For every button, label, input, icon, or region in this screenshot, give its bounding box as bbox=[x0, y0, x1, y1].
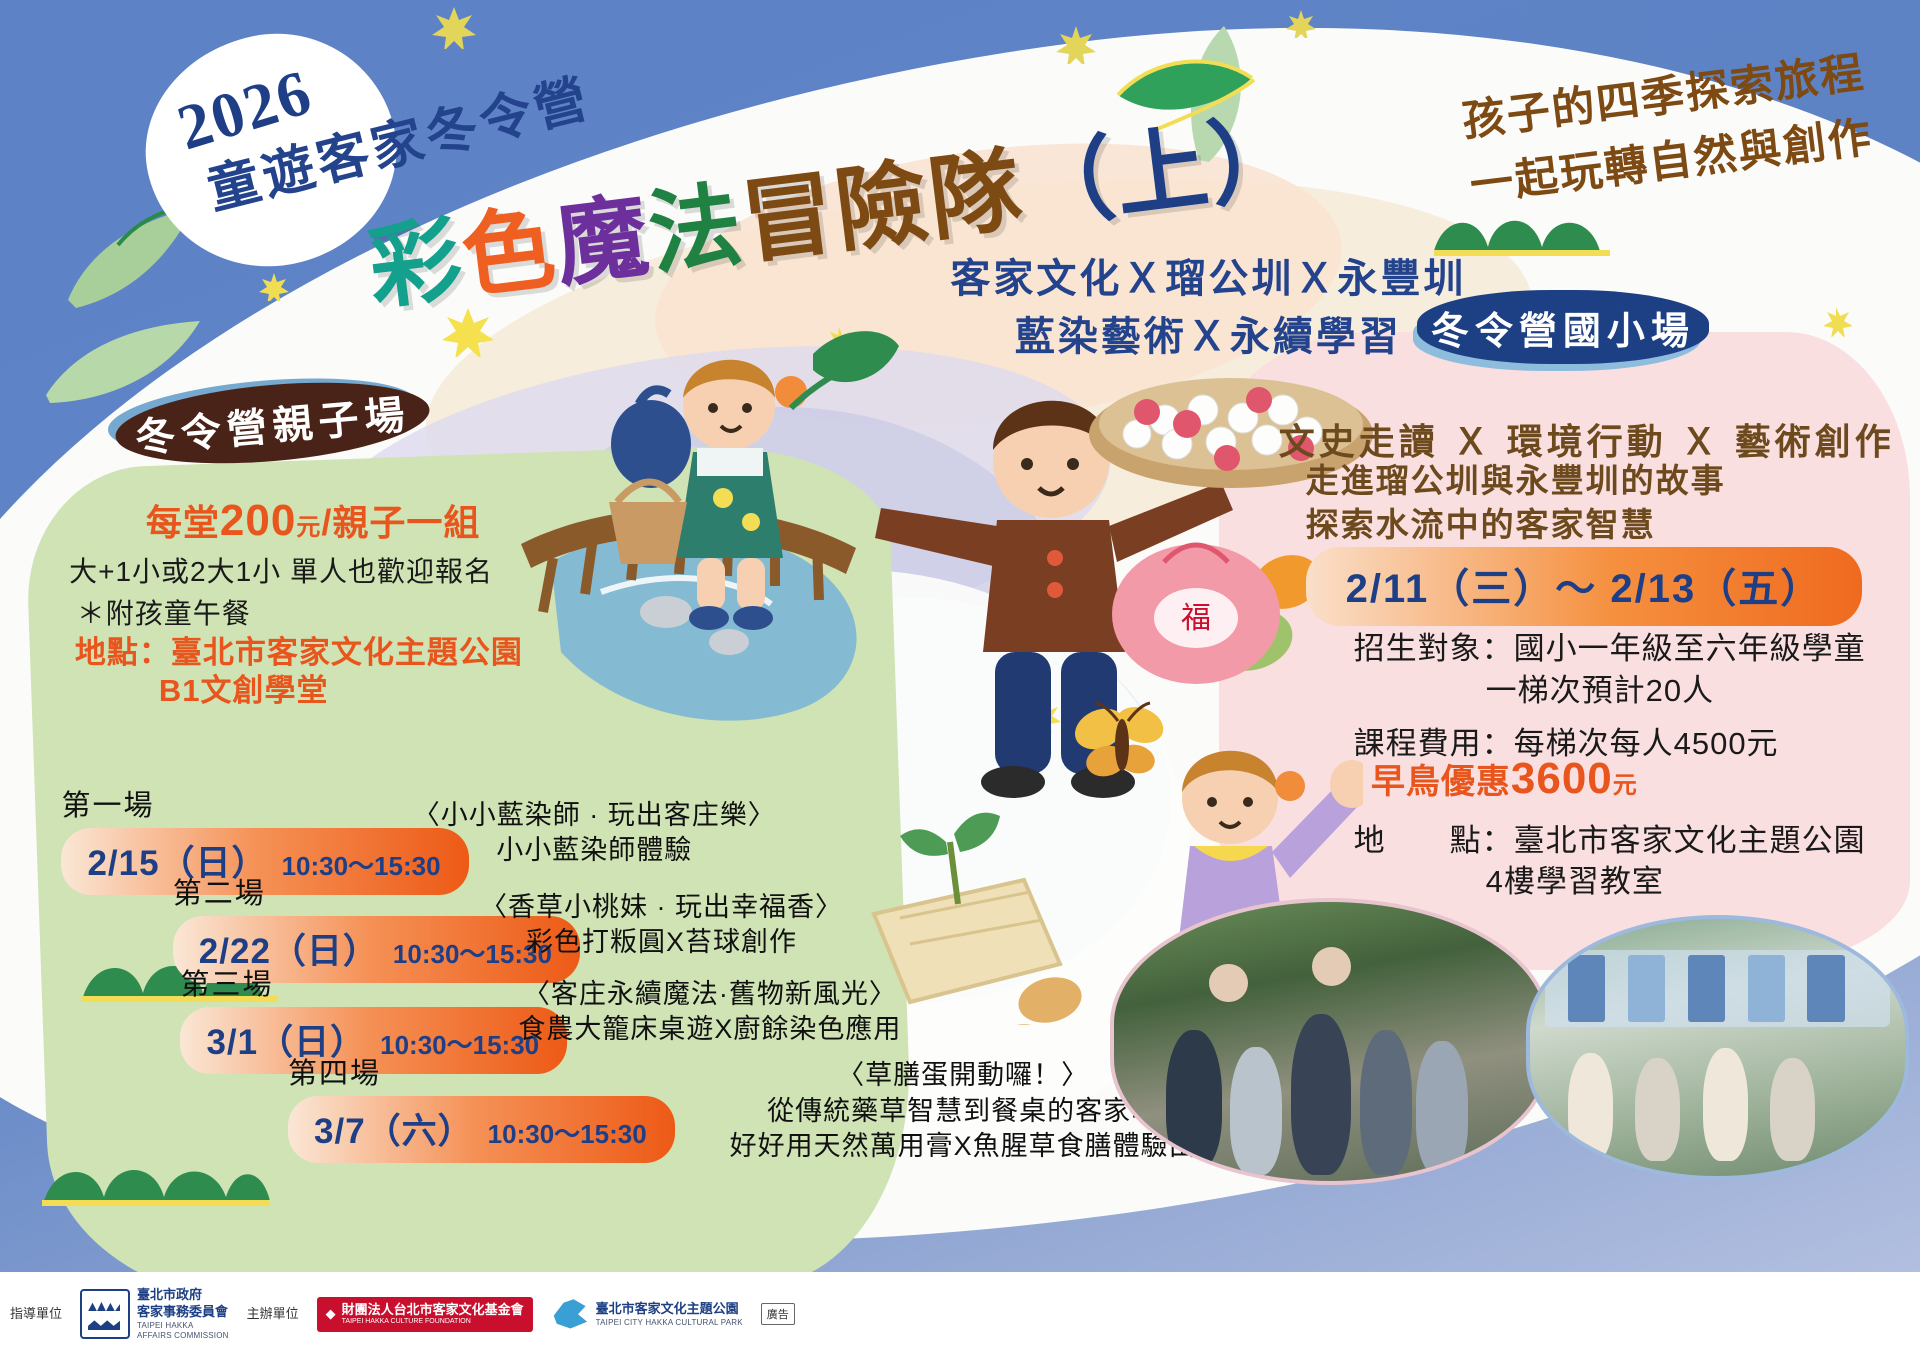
footer-guide-label: 指導單位 bbox=[10, 1306, 62, 1322]
session-subtitle: 食農大籠床桌遊X廚餘染色應用 bbox=[518, 1012, 901, 1047]
session-item: 第四場 3/7（六） 10:30～15:30 bbox=[288, 1050, 675, 1163]
school-subheadline-line-2: 探索水流中的客家智慧 bbox=[1306, 503, 1726, 548]
photo-outdoor-activity bbox=[1526, 915, 1908, 1181]
school-place-value-2: 4樓學習教室 bbox=[1486, 861, 1866, 903]
parent-price: 每堂200元/親子一組 bbox=[146, 494, 480, 546]
logo-hakka-park: 臺北市客家文化主題公園 TAIPEI CITY HAKKA CULTURAL P… bbox=[551, 1297, 743, 1331]
park-en: TAIPEI CITY HAKKA CULTURAL PARK bbox=[596, 1318, 743, 1328]
commission-text: 臺北市政府 客家事務委員會 TAIPEI HAKKA AFFAIRS COMMI… bbox=[137, 1287, 229, 1342]
svg-text:福: 福 bbox=[1181, 601, 1211, 636]
school-target-value-2: 一梯次預計20人 bbox=[1486, 670, 1866, 712]
park-text: 臺北市客家文化主題公園 TAIPEI CITY HAKKA CULTURAL P… bbox=[596, 1301, 743, 1328]
price-unit: 元 bbox=[296, 514, 321, 541]
star-icon bbox=[259, 271, 289, 301]
session-title: 〈客庄永續魔法·舊物新風光〉 bbox=[518, 977, 901, 1012]
school-target-label: 招生對象： bbox=[1354, 631, 1514, 666]
bird-icon bbox=[551, 1297, 589, 1331]
footer-host-label: 主辦單位 bbox=[247, 1306, 299, 1322]
school-place-label: 地 點： bbox=[1354, 823, 1514, 858]
foundation-line-1: 財團法人台北市客家文化基金會 bbox=[342, 1302, 524, 1317]
school-target-value: 國小一年級至六年級學童 bbox=[1514, 631, 1866, 666]
school-place: 地 點：臺北市客家文化主題公園 4樓學習教室 bbox=[1354, 820, 1866, 904]
star-icon bbox=[1056, 24, 1096, 64]
poster-canvas: 2026 童遊客家冬令營 彩色魔法冒險隊（上） 孩子的四季探索旅程 一起玩轉自然… bbox=[0, 0, 1920, 1357]
hill-shape bbox=[38, 1147, 278, 1207]
price-suffix: /親子一組 bbox=[321, 502, 480, 543]
school-target: 招生對象：國小一年級至六年級學童 一梯次預計20人 bbox=[1354, 628, 1866, 712]
session-description: 〈小小藍染師 · 玩出客庄樂〉 小小藍染師體驗 bbox=[413, 798, 776, 868]
session-number: 第一場 bbox=[61, 782, 468, 824]
early-bird-prefix: 早鳥優惠 bbox=[1371, 763, 1511, 801]
footer-bar: 指導單位 臺北市政府 客家事務委員會 TAIPEI HAKKA AFFAIRS … bbox=[0, 1272, 1920, 1357]
commission-en-2: AFFAIRS COMMISSION bbox=[137, 1331, 229, 1341]
foundation-text: 財團法人台北市客家文化基金會 TAIPEI HAKKA CULTURE FOUN… bbox=[342, 1302, 524, 1327]
title-part-2: 色 bbox=[454, 173, 564, 316]
session-subtitle: 小小藍染師體驗 bbox=[413, 833, 776, 868]
parent-venue-line-1: 地點：臺北市客家文化主題公園 bbox=[75, 635, 523, 670]
school-headline: 文史走讀 Ｘ 環境行動 Ｘ 藝術創作 bbox=[1279, 413, 1895, 465]
session-time: 10:30～15:30 bbox=[488, 1114, 647, 1151]
park-line-1: 臺北市客家文化主題公園 bbox=[596, 1301, 743, 1318]
title-part-1: 彩 bbox=[360, 185, 470, 328]
session-description: 〈香草小桃妹 · 玩出幸福香〉 彩色打粄圓X苔球創作 bbox=[480, 890, 843, 960]
parent-note-2: ＊附孩童午餐 bbox=[77, 592, 251, 632]
school-place-value: 臺北市客家文化主題公園 bbox=[1514, 823, 1866, 858]
school-subheadline: 走進瑠公圳與永豐圳的故事 探索水流中的客家智慧 bbox=[1306, 459, 1726, 548]
commission-line-2: 客家事務委員會 bbox=[137, 1304, 229, 1321]
star-icon bbox=[1820, 305, 1852, 337]
parent-venue: 地點：臺北市客家文化主題公園 B1文創學堂 bbox=[75, 634, 523, 712]
early-bird-number: 3600 bbox=[1511, 754, 1613, 803]
price-number: 200 bbox=[220, 496, 296, 545]
illustration-peach-bun: 福 bbox=[1104, 522, 1296, 685]
price-prefix: 每堂 bbox=[146, 502, 220, 543]
ad-mark: 廣告 bbox=[761, 1303, 795, 1325]
hakka-commission-icon bbox=[80, 1289, 130, 1339]
session-title: 〈小小藍染師 · 玩出客庄樂〉 bbox=[413, 798, 776, 833]
logo-taipei-hakka-commission: 臺北市政府 客家事務委員會 TAIPEI HAKKA AFFAIRS COMMI… bbox=[80, 1287, 229, 1342]
title-part-4: 法 bbox=[640, 150, 750, 293]
session-date-pill[interactable]: 3/7（六） 10:30～15:30 bbox=[288, 1096, 675, 1163]
badge-school-camp: 冬令營國小場 bbox=[1417, 290, 1709, 363]
session-date: 3/7（六） bbox=[314, 1103, 474, 1154]
title-part-3: 魔 bbox=[547, 162, 657, 305]
logo-hakka-foundation: ◆ 財團法人台北市客家文化基金會 TAIPEI HAKKA CULTURE FO… bbox=[317, 1297, 533, 1332]
early-bird-unit: 元 bbox=[1613, 772, 1638, 799]
star-icon bbox=[1286, 8, 1316, 38]
parent-note-1: 大+1小或2大1小 單人也歡迎報名 bbox=[69, 550, 493, 590]
photo-field-trip bbox=[1110, 898, 1550, 1184]
session-subtitle-2: 好好用天然萬用膏X魚腥草食膳體驗由 bbox=[730, 1129, 1197, 1164]
school-early-bird: 早鳥優惠3600元 bbox=[1371, 754, 1638, 804]
session-description: 〈客庄永續魔法·舊物新風光〉 食農大籠床桌遊X廚餘染色應用 bbox=[518, 977, 901, 1047]
session-number: 第四場 bbox=[288, 1050, 675, 1092]
school-subheadline-line-1: 走進瑠公圳與永豐圳的故事 bbox=[1306, 459, 1726, 504]
star-icon bbox=[432, 5, 476, 49]
foundation-mark-icon: ◆ bbox=[326, 1306, 336, 1322]
school-date-pill[interactable]: 2/11（三）～ 2/13（五） bbox=[1306, 547, 1863, 626]
commission-line-1: 臺北市政府 bbox=[137, 1287, 229, 1304]
session-number: 第三場 bbox=[180, 961, 567, 1003]
cross-topics-line-1: 客家文化Ｘ瑠公圳Ｘ永豐圳 bbox=[950, 250, 1466, 308]
session-subtitle: 彩色打粄圓X苔球創作 bbox=[480, 925, 843, 960]
session-title: 〈香草小桃妹 · 玩出幸福香〉 bbox=[480, 890, 843, 925]
commission-en-1: TAIPEI HAKKA bbox=[137, 1321, 229, 1331]
foundation-en: TAIPEI HAKKA CULTURE FOUNDATION bbox=[342, 1318, 524, 1327]
parent-venue-line-2: B1文創學堂 bbox=[159, 672, 523, 711]
